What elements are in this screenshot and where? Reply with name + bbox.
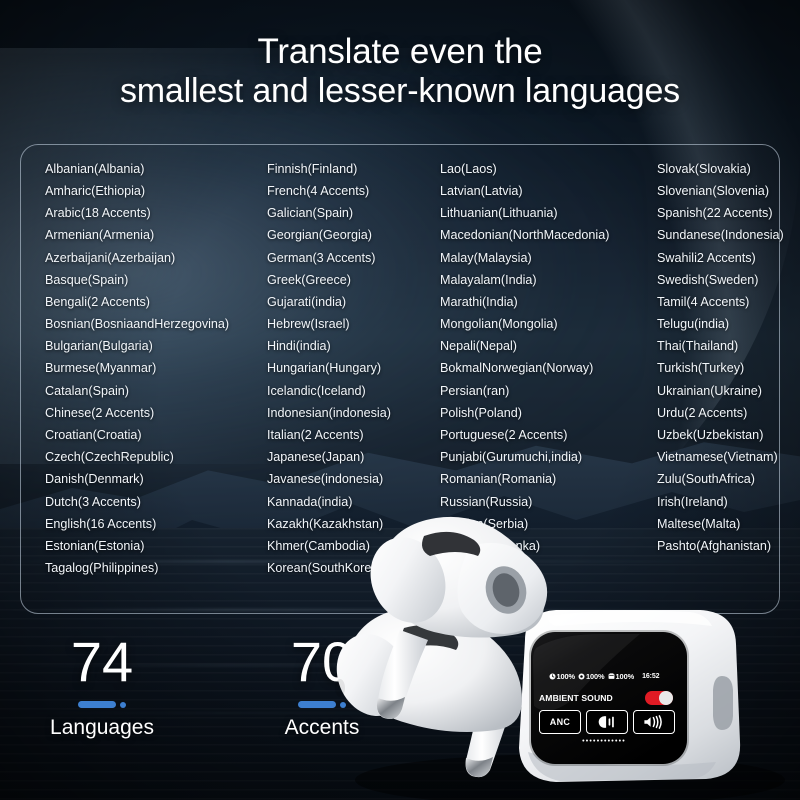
language-item: Macedonian(NorthMacedonia) [440,225,657,247]
language-item: Hungarian(Hungary) [267,358,440,380]
language-item: Chinese(2 Accents) [45,402,267,424]
language-item: Finnish(Finland) [267,158,440,180]
language-item: Bulgarian(Bulgaria) [45,336,267,358]
language-item: Urdu(2 Accents) [657,402,800,424]
language-item: Maltese(Malta) [657,513,800,535]
language-item: German(3 Accents) [267,247,440,269]
language-columns: Albanian(Albania) Amharic(Ethiopia) Arab… [21,145,779,613]
language-list-card: Albanian(Albania) Amharic(Ethiopia) Arab… [20,144,780,614]
stat-label: Languages [34,716,170,740]
language-item: Bosnian(BosniaandHerzegovina) [45,313,267,335]
language-item: Marathi(India) [440,291,657,313]
language-item: Albanian(Albania) [45,158,267,180]
language-item: Armenian(Armenia) [45,225,267,247]
screen-mode-buttons: ANC [539,710,675,734]
language-item: Italian(2 Accents) [267,424,440,446]
stat-value: 74 [34,634,170,690]
language-item: English(16 Accents) [45,513,267,535]
stat-value: 70 [254,634,390,690]
language-item: Persian(ran) [440,380,657,402]
language-item: Serbian(Serbia) [440,513,657,535]
language-item: Sundanese(Indonesia) [657,225,800,247]
right-bud-battery: 100% [578,672,605,681]
language-item: Telugu(india) [657,313,800,335]
language-item: BokmalNorwegian(Norway) [440,358,657,380]
language-item: Khmer(Cambodia) [267,535,440,557]
underline-bar [78,701,116,708]
language-column-2: Finnish(Finland) French(4 Accents) Galic… [267,158,440,613]
language-item: Icelandic(Iceland) [267,380,440,402]
language-item: Gujarati(india) [267,291,440,313]
language-item: Latvian(Latvia) [440,180,657,202]
language-item: Malay(Malaysia) [440,247,657,269]
ambient-sound-label: AMBIENT SOUND [539,693,613,703]
stat-underline [78,701,126,708]
language-item: Zulu(SouthAfrica) [657,469,800,491]
language-column-4: Slovak(Slovakia) Slovenian(Slovenia) Spa… [657,158,800,613]
case-screen-ui: 100% 100% 100% 16:52 AMBIENT SOUND [533,664,681,764]
language-item: Malayalam(India) [440,269,657,291]
language-item: Hebrew(Israel) [267,313,440,335]
headline-line-2: smallest and lesser-known languages [0,72,800,111]
language-item: Bengali(2 Accents) [45,291,267,313]
left-earbud-battery-icon [549,673,556,680]
case-battery-value: 100% [616,672,635,681]
language-item: Basque(Spain) [45,269,267,291]
language-item: Dutch(3 Accents) [45,491,267,513]
anc-button-label: ANC [550,717,570,727]
stat-underline [298,701,346,708]
language-item: Nepali(Nepal) [440,336,657,358]
language-item: Uzbek(Uzbekistan) [657,424,800,446]
language-item: Ukrainian(Ukraine) [657,380,800,402]
language-item: Indonesian(indonesia) [267,402,440,424]
screen-page-dots: •••••••••••• [533,738,675,745]
language-item: Spanish(22 Accents) [657,202,800,224]
language-item: Polish(Poland) [440,402,657,424]
ambient-sound-toggle[interactable] [645,691,673,705]
case-battery: 100% [608,672,635,681]
sound-wave-button[interactable] [633,710,675,734]
ambient-sound-row: AMBIENT SOUND [539,691,673,705]
headline-line-1: Translate even the [0,32,800,72]
transparency-ear-icon [594,715,620,729]
language-item: Estonian(Estonia) [45,535,267,557]
language-item: Tamil(4 Accents) [657,291,800,313]
language-item: Swedish(Sweden) [657,269,800,291]
language-item: Portuguese(2 Accents) [440,424,657,446]
language-item: Greek(Greece) [267,269,440,291]
screen-clock: 16:52 [642,673,659,680]
language-item: Azerbaijani(Azerbaijan) [45,247,267,269]
language-item: Romanian(Romania) [440,469,657,491]
language-column-1: Albanian(Albania) Amharic(Ethiopia) Arab… [21,158,267,613]
language-item: Danish(Denmark) [45,469,267,491]
language-item: Burmese(Myanmar) [45,358,267,380]
headline: Translate even the smallest and lesser-k… [0,32,800,111]
language-item: Russian(Russia) [440,491,657,513]
promo-image-root: Translate even the smallest and lesser-k… [0,0,800,800]
language-item: Czech(CzechRepublic) [45,446,267,468]
language-item: Kazakh(Kazakhstan) [267,513,440,535]
language-item: Thai(Thailand) [657,336,800,358]
stat-accents: 70 Accents [254,634,390,740]
screen-status-bar: 100% 100% 100% 16:52 [533,672,675,681]
language-item: Croatian(Croatia) [45,424,267,446]
stat-languages: 74 Languages [34,634,170,740]
underline-bar [298,701,336,708]
language-item: Lithuanian(Lithuania) [440,202,657,224]
language-item: Catalan(Spain) [45,380,267,402]
right-bud-battery-value: 100% [586,672,605,681]
left-bud-battery: 100% [549,672,576,681]
language-item: Kannada(india) [267,491,440,513]
toggle-knob [659,691,673,705]
language-item: Punjabi(Gurumuchi,india) [440,446,657,468]
underline-dot [120,702,126,708]
language-item: Irish(Ireland) [657,491,800,513]
language-item: Japanese(Japan) [267,446,440,468]
language-item: Pashto(Afghanistan) [657,535,800,557]
language-item: Hindi(india) [267,336,440,358]
transparency-button[interactable] [586,710,628,734]
language-item: Tagalog(Philippines) [45,557,267,579]
left-bud-battery-value: 100% [557,672,576,681]
stats-row: 74 Languages 70 Accents [34,634,390,740]
stat-label: Accents [254,716,390,740]
language-column-3: Lao(Laos) Latvian(Latvia) Lithuanian(Lit… [440,158,657,613]
underline-dot [340,702,346,708]
language-item: Slovak(Slovakia) [657,158,800,180]
language-item: Turkish(Turkey) [657,358,800,380]
language-item: Swahili2 Accents) [657,247,800,269]
language-item: French(4 Accents) [267,180,440,202]
language-item: Georgian(Georgia) [267,225,440,247]
sound-wave-icon [642,715,666,729]
language-item: Javanese(indonesia) [267,469,440,491]
language-item: Mongolian(Mongolia) [440,313,657,335]
language-item: Galician(Spain) [267,202,440,224]
language-item: Vietnamese(Vietnam) [657,446,800,468]
language-item: Korean(SouthKorea) [267,557,440,579]
language-item: Lao(Laos) [440,158,657,180]
anc-button[interactable]: ANC [539,710,581,734]
case-battery-icon [608,673,615,680]
language-item: Arabic(18 Accents) [45,202,267,224]
language-item: Slovenian(Slovenia) [657,180,800,202]
right-earbud-battery-icon [578,673,585,680]
language-item: Sinhala(SriLanka) [440,535,657,557]
language-item: Amharic(Ethiopia) [45,180,267,202]
